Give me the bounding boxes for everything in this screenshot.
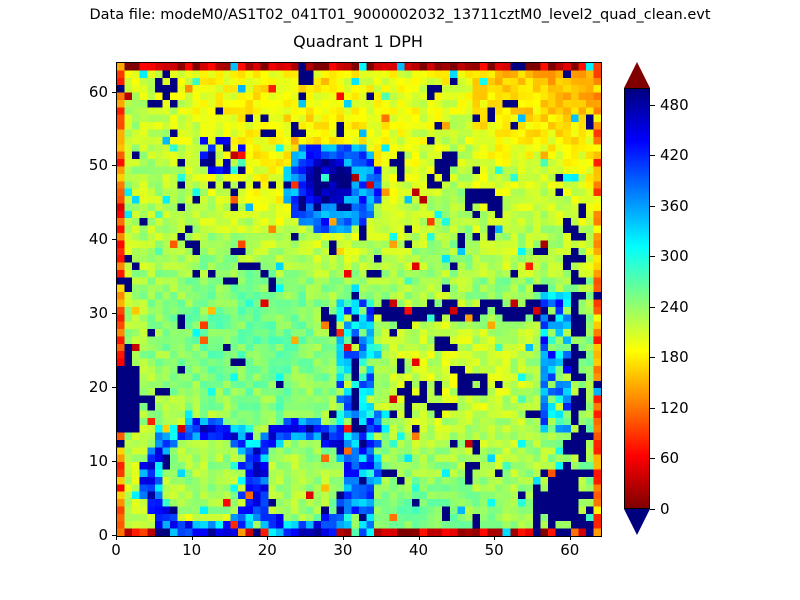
colorbar-under-arrow (624, 509, 650, 535)
x-tick-mark (116, 536, 117, 540)
y-tick-label: 30 (76, 304, 108, 322)
colorbar-tick-label: 180 (660, 348, 689, 366)
colorbar[interactable]: 060120180240300360420480 (624, 62, 650, 535)
y-tick-label: 20 (76, 378, 108, 396)
y-tick-label: 50 (76, 156, 108, 174)
colorbar-tick-mark (650, 509, 655, 510)
x-tick-mark (494, 536, 495, 540)
colorbar-tick-label: 480 (660, 96, 689, 114)
colorbar-tick-label: 420 (660, 146, 689, 164)
x-tick-mark (419, 536, 420, 540)
colorbar-tick-label: 60 (660, 449, 679, 467)
y-tick-label: 0 (76, 526, 108, 544)
colorbar-over-arrow (624, 62, 650, 88)
x-tick-mark (192, 536, 193, 540)
colorbar-tick-mark (650, 105, 655, 106)
colorbar-gradient (625, 89, 649, 508)
x-tick-label: 40 (409, 541, 428, 559)
colorbar-tick-label: 300 (660, 247, 689, 265)
y-tick-mark (112, 461, 116, 462)
colorbar-tick-mark (650, 357, 655, 358)
y-tick-label: 10 (76, 452, 108, 470)
x-tick-mark (267, 536, 268, 540)
colorbar-body[interactable] (624, 88, 650, 509)
data-file-title: Data file: modeM0/AS1T02_041T01_90000020… (0, 7, 800, 23)
figure-canvas: Data file: modeM0/AS1T02_041T01_90000020… (0, 0, 800, 600)
colorbar-tick-mark (650, 206, 655, 207)
heatmap-axes[interactable] (116, 62, 602, 537)
colorbar-tick-mark (650, 458, 655, 459)
colorbar-tick-label: 240 (660, 298, 689, 316)
colorbar-tick-mark (650, 408, 655, 409)
y-tick-mark (112, 92, 116, 93)
detector-heatmap-image[interactable] (117, 63, 601, 536)
y-tick-label: 40 (76, 230, 108, 248)
colorbar-tick-label: 120 (660, 399, 689, 417)
x-tick-label: 10 (182, 541, 201, 559)
colorbar-tick-mark (650, 155, 655, 156)
y-tick-mark (112, 165, 116, 166)
colorbar-tick-label: 360 (660, 197, 689, 215)
colorbar-tick-label: 0 (660, 500, 670, 518)
x-tick-label: 20 (258, 541, 277, 559)
y-tick-mark (112, 313, 116, 314)
x-tick-label: 50 (485, 541, 504, 559)
x-tick-label: 30 (333, 541, 352, 559)
y-tick-mark (112, 535, 116, 536)
y-tick-mark (112, 239, 116, 240)
x-tick-label: 0 (111, 541, 121, 559)
colorbar-tick-mark (650, 256, 655, 257)
plot-title: Quadrant 1 DPH (116, 32, 600, 51)
x-tick-label: 60 (560, 541, 579, 559)
colorbar-tick-mark (650, 307, 655, 308)
x-tick-mark (570, 536, 571, 540)
x-tick-mark (343, 536, 344, 540)
y-tick-mark (112, 387, 116, 388)
y-tick-label: 60 (76, 83, 108, 101)
